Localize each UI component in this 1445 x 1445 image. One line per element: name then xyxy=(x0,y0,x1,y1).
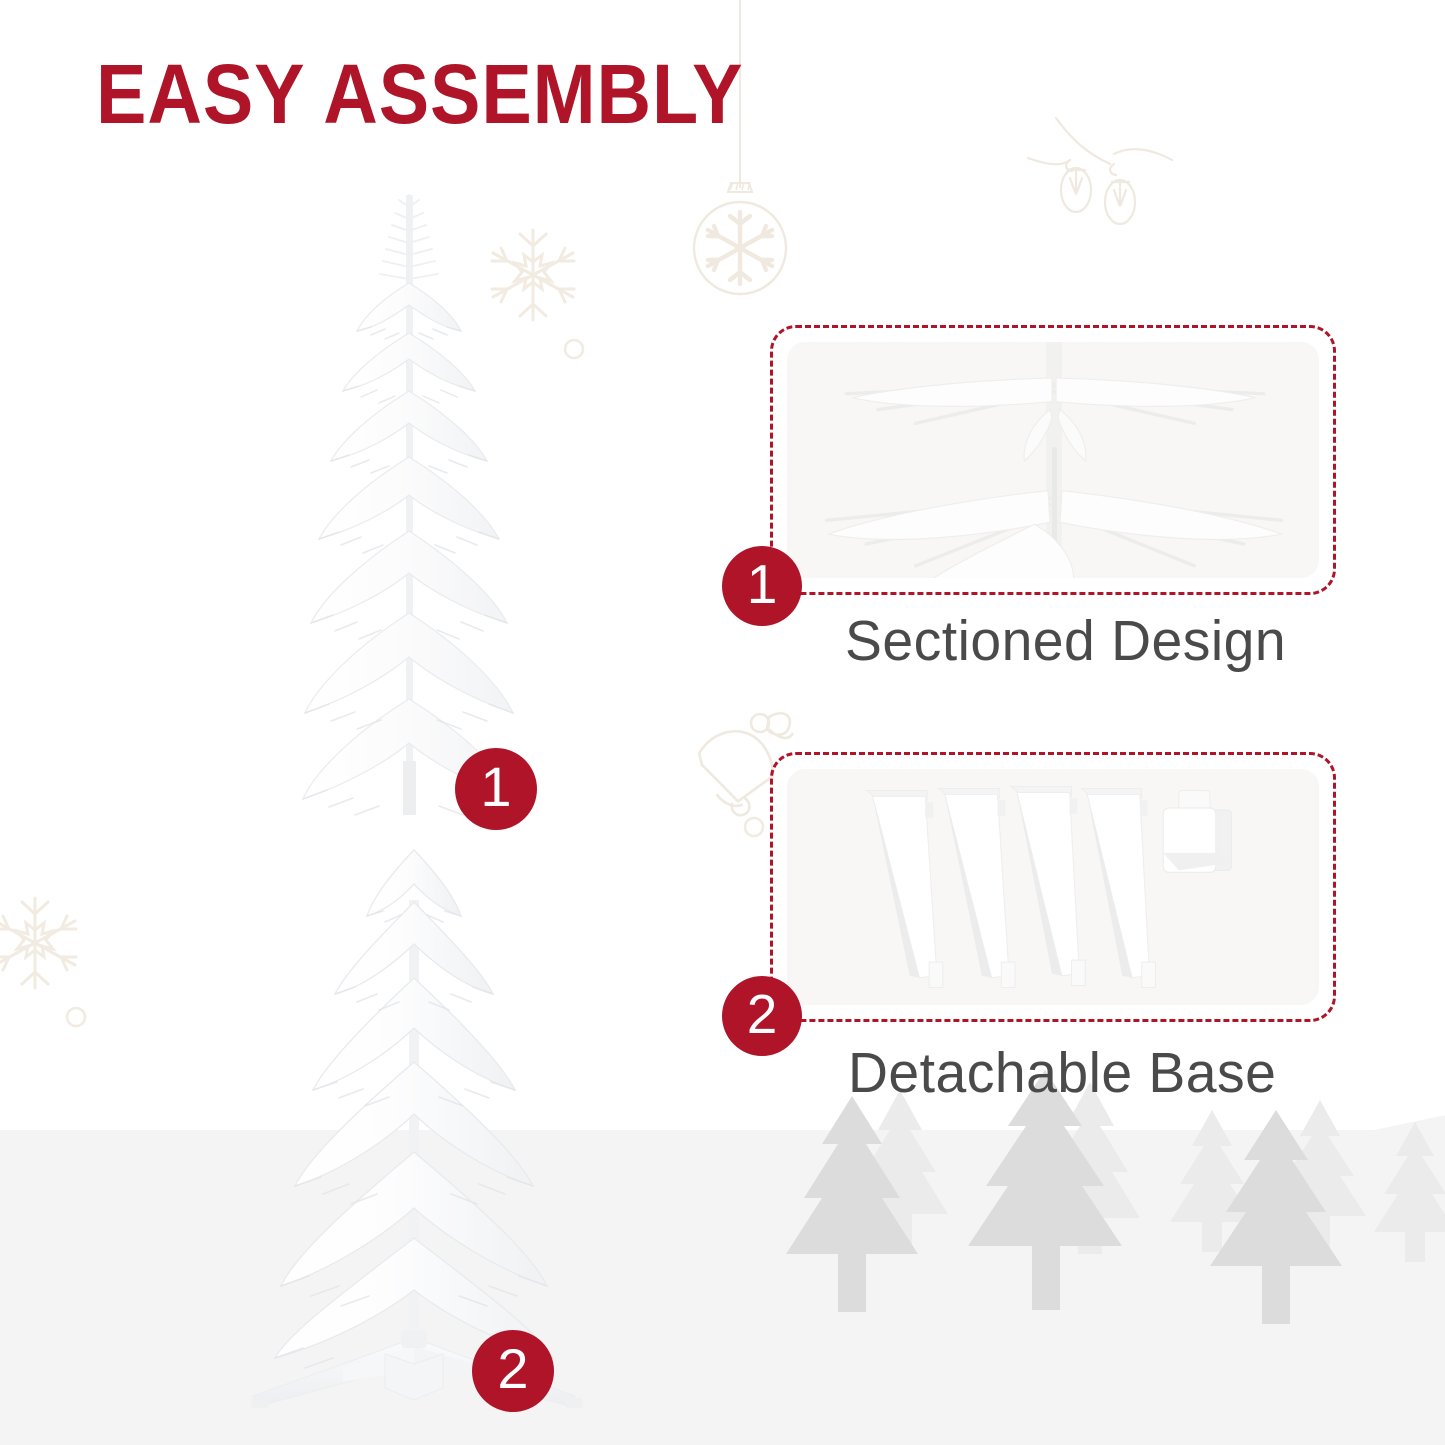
tree-section-joint-closeup xyxy=(787,342,1319,578)
badge-product-2-label: 2 xyxy=(497,1341,528,1397)
badge-feature-2: 2 xyxy=(722,976,802,1056)
badge-product-1: 1 xyxy=(455,748,537,830)
feature-card-detachable-base[interactable] xyxy=(770,752,1336,1022)
snowflake-icon-bottom-left xyxy=(0,890,102,1040)
feature-caption-1: Sectioned Design xyxy=(845,608,1286,674)
pencil-tree-upper-section xyxy=(245,165,575,835)
base-legs-and-hub-parts xyxy=(787,769,1319,1005)
hanging-ornament-ball-snowflake-icon xyxy=(680,0,800,300)
badge-product-1-label: 1 xyxy=(480,759,511,815)
pine-tree-silhouettes xyxy=(760,1060,1445,1390)
feature-card-1-image xyxy=(787,342,1319,578)
badge-product-2: 2 xyxy=(472,1330,554,1412)
badge-feature-2-label: 2 xyxy=(747,987,778,1042)
badge-feature-1-label: 1 xyxy=(747,557,778,612)
feature-card-2-image xyxy=(787,769,1319,1005)
badge-feature-1: 1 xyxy=(722,546,802,626)
infographic-canvas: EASY ASSEMBLY xyxy=(0,0,1445,1445)
feature-card-sectioned-design[interactable] xyxy=(770,325,1336,595)
page-title: EASY ASSEMBLY xyxy=(96,52,744,136)
assembled-tree-with-stand xyxy=(185,840,655,1420)
feature-caption-2: Detachable Base xyxy=(848,1040,1276,1106)
string-lights-icon xyxy=(1010,110,1180,240)
